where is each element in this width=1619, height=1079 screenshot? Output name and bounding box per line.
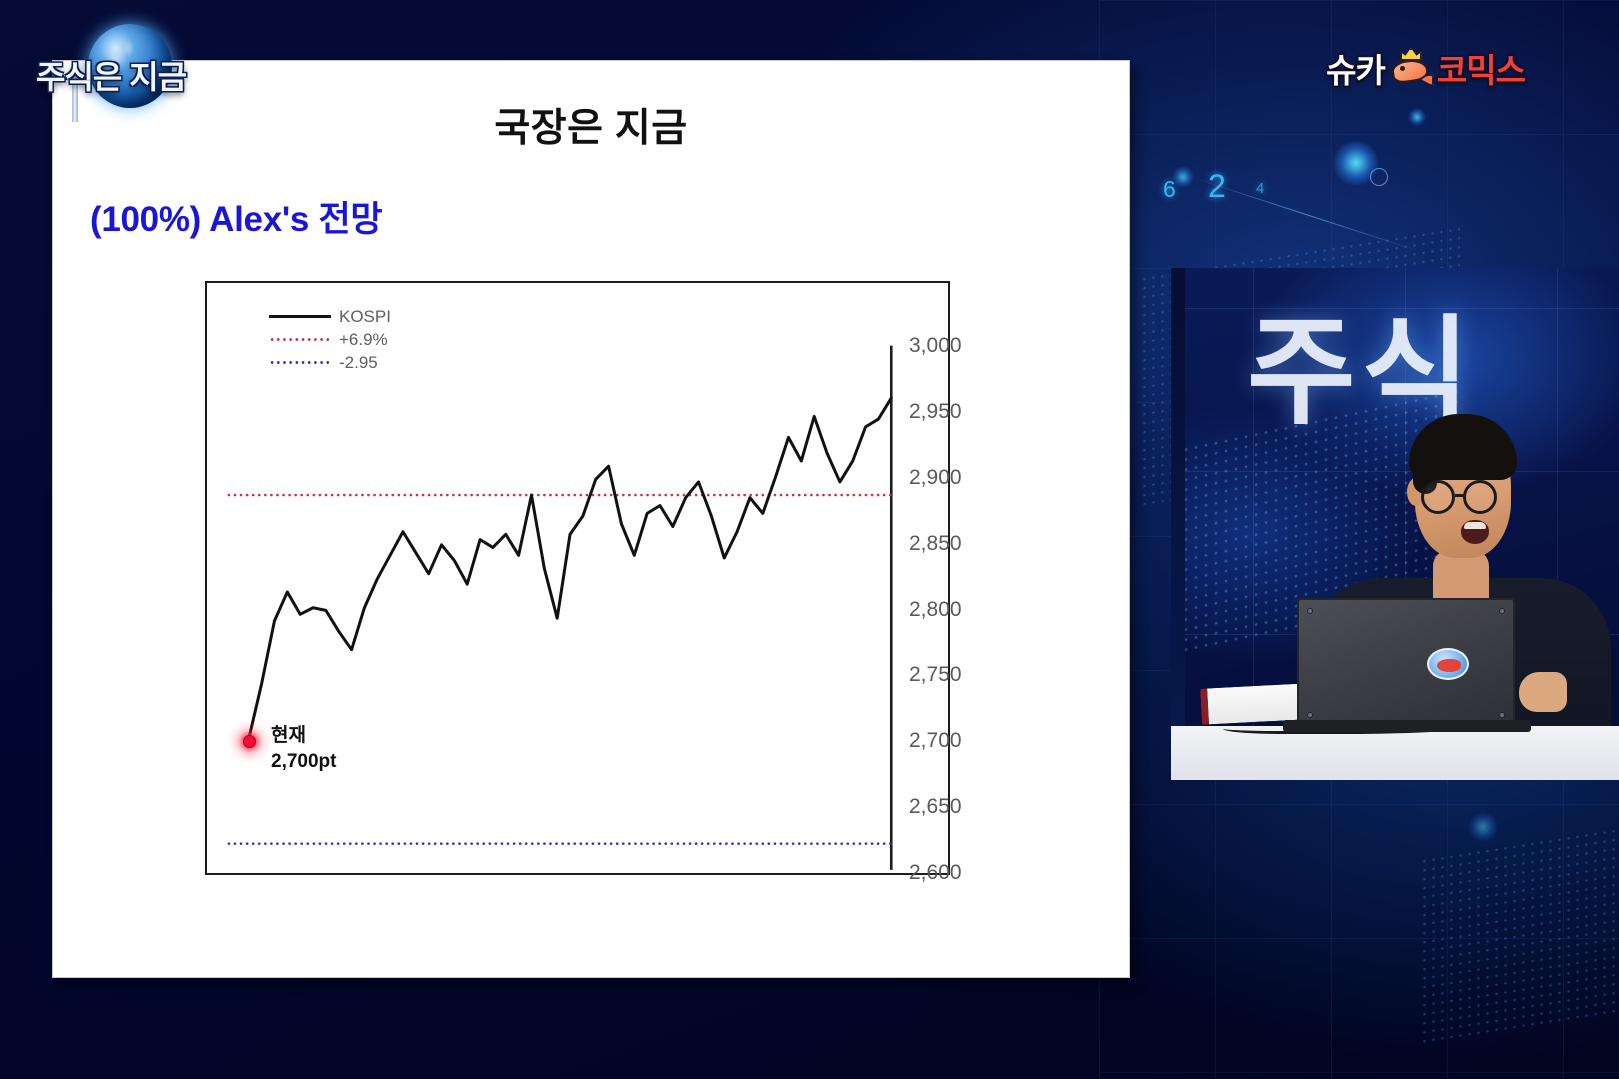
y-axis-tick: 2,800 <box>909 598 962 622</box>
y-axis-tick: 2,750 <box>909 663 962 687</box>
channel-logo-word-1: 슈카 <box>1326 44 1385 92</box>
y-axis-tick: 2,700 <box>909 729 962 753</box>
chart-container: KOSPI +6.9% -2.95 현재 2,700pt 3,0 <box>205 281 950 875</box>
background-number: 2 <box>1208 168 1226 205</box>
shrimp-eye <box>1400 66 1405 71</box>
laptop-base <box>1283 720 1531 732</box>
glasses-lens-left <box>1421 480 1455 514</box>
background-number: 4 <box>1256 180 1264 197</box>
broadcast-stage: 6 2 4 2 5 9 주식은 지금 슈카 코믹스 국장은 지금 (100%) … <box>0 0 1619 1079</box>
annotation-line-2: 2,700pt <box>271 749 336 775</box>
current-value-marker <box>243 735 256 748</box>
background-node-icon <box>1370 168 1388 186</box>
presentation-slide: 국장은 지금 (100%) Alex's 전망 KOSPI +6.9% -2.9… <box>52 60 1130 978</box>
video-inset: 주식 Th <box>1171 268 1619 780</box>
y-axis-tick: 2,600 <box>909 861 962 885</box>
program-logo-label: 주식은 지금 <box>36 52 186 98</box>
presenter-mouth <box>1461 520 1489 544</box>
background-glow <box>1408 108 1426 126</box>
y-axis-tick: 2,950 <box>909 400 962 424</box>
background-number: 6 <box>1163 176 1176 203</box>
laptop-sticker-icon <box>1427 648 1469 680</box>
shrimp-mascot-icon <box>1388 48 1434 88</box>
glasses-bridge <box>1455 494 1465 497</box>
y-axis-tick: 3,000 <box>909 334 962 358</box>
y-axis-tick: 2,900 <box>909 466 962 490</box>
slide-subtitle: (100%) Alex's 전망 <box>90 191 382 242</box>
presenter-hand <box>1519 672 1567 712</box>
current-value-annotation: 현재 2,700pt <box>271 723 336 774</box>
studio-desk <box>1171 726 1619 780</box>
chart-plot <box>207 283 948 874</box>
glasses-lens-right <box>1463 480 1497 514</box>
background-dot-field <box>1420 823 1619 1048</box>
crown-icon <box>1400 48 1422 61</box>
laptop <box>1297 598 1515 726</box>
annotation-line-1: 현재 <box>271 723 336 749</box>
y-axis-tick: 2,650 <box>909 795 962 819</box>
y-axis-tick: 2,850 <box>909 532 962 556</box>
video-left-strip <box>1171 268 1185 780</box>
presenter-hair <box>1409 414 1517 480</box>
channel-logo: 슈카 코믹스 <box>1326 44 1525 92</box>
program-logo: 주식은 지금 <box>26 22 216 118</box>
channel-logo-word-2: 코믹스 <box>1437 44 1525 92</box>
background-glow <box>1468 812 1498 842</box>
